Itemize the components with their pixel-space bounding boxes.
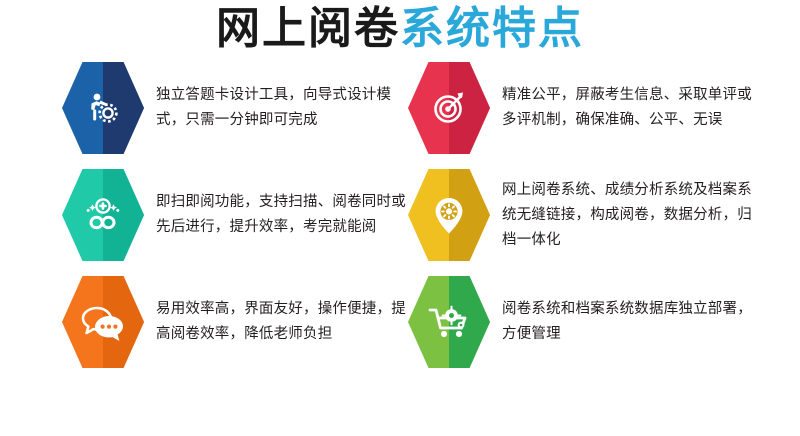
feature-text: 易用效率高，界面友好，操作便捷，提高阅卷效率，降低老师负担 <box>156 297 412 347</box>
feature-icon-badge <box>62 276 144 368</box>
feature-icon-badge <box>62 62 144 154</box>
feature-text: 精准公平，屏蔽考生信息、采取单评或多评机制，确保准确、公平、无误 <box>502 83 758 133</box>
feature-item-fair-grading: 精准公平，屏蔽考生信息、采取单评或多评机制，确保准确、公平、无误 <box>408 62 758 154</box>
page-title: 网上阅卷系统特点 <box>0 2 800 56</box>
feature-text: 即扫即阅功能，支持扫描、阅卷同时或先后进行，提升效率，考完就能阅 <box>156 190 412 240</box>
feature-item-scan-and-read: 即扫即阅功能，支持扫描、阅卷同时或先后进行，提升效率，考完就能阅 <box>62 169 412 261</box>
feature-icon-badge <box>62 169 144 261</box>
feature-item-answer-card-designer: 独立答题卡设计工具，向导式设计模式，只需一分钟即可完成 <box>62 62 412 154</box>
person-gear-icon <box>62 62 144 154</box>
page-title-dark-part: 网上阅卷 <box>216 3 400 54</box>
feature-icon-badge <box>408 169 490 261</box>
feature-icon-badge <box>408 276 490 368</box>
feature-item-easy-to-use: 易用效率高，界面友好，操作便捷，提高阅卷效率，降低老师负担 <box>62 276 412 368</box>
chat-bubbles-icon <box>62 276 144 368</box>
target-icon <box>408 62 490 154</box>
feature-item-seamless-integration: 网上阅卷系统、成绩分析系统及档案系统无缝链接，构成阅卷，数据分析，归档一体化 <box>408 169 758 261</box>
feature-text: 独立答题卡设计工具，向导式设计模式，只需一分钟即可完成 <box>156 83 412 133</box>
chain-link-plus-icon <box>62 169 144 261</box>
feature-poster: 网上阅卷系统特点 独立答题卡设计工具，向导式设 <box>0 0 800 436</box>
page-title-accent-part: 系统特点 <box>400 3 584 54</box>
feature-grid: 独立答题卡设计工具，向导式设计模式，只需一分钟即可完成 <box>0 62 800 382</box>
feature-text: 阅卷系统和档案系统数据库独立部署，方便管理 <box>502 297 758 347</box>
feature-icon-badge <box>408 62 490 154</box>
feature-text: 网上阅卷系统、成绩分析系统及档案系统无缝链接，构成阅卷，数据分析，归档一体化 <box>502 178 758 253</box>
shopping-cart-gear-icon <box>408 276 490 368</box>
feature-item-independent-database: 阅卷系统和档案系统数据库独立部署，方便管理 <box>408 276 758 368</box>
map-pin-gear-icon <box>408 169 490 261</box>
